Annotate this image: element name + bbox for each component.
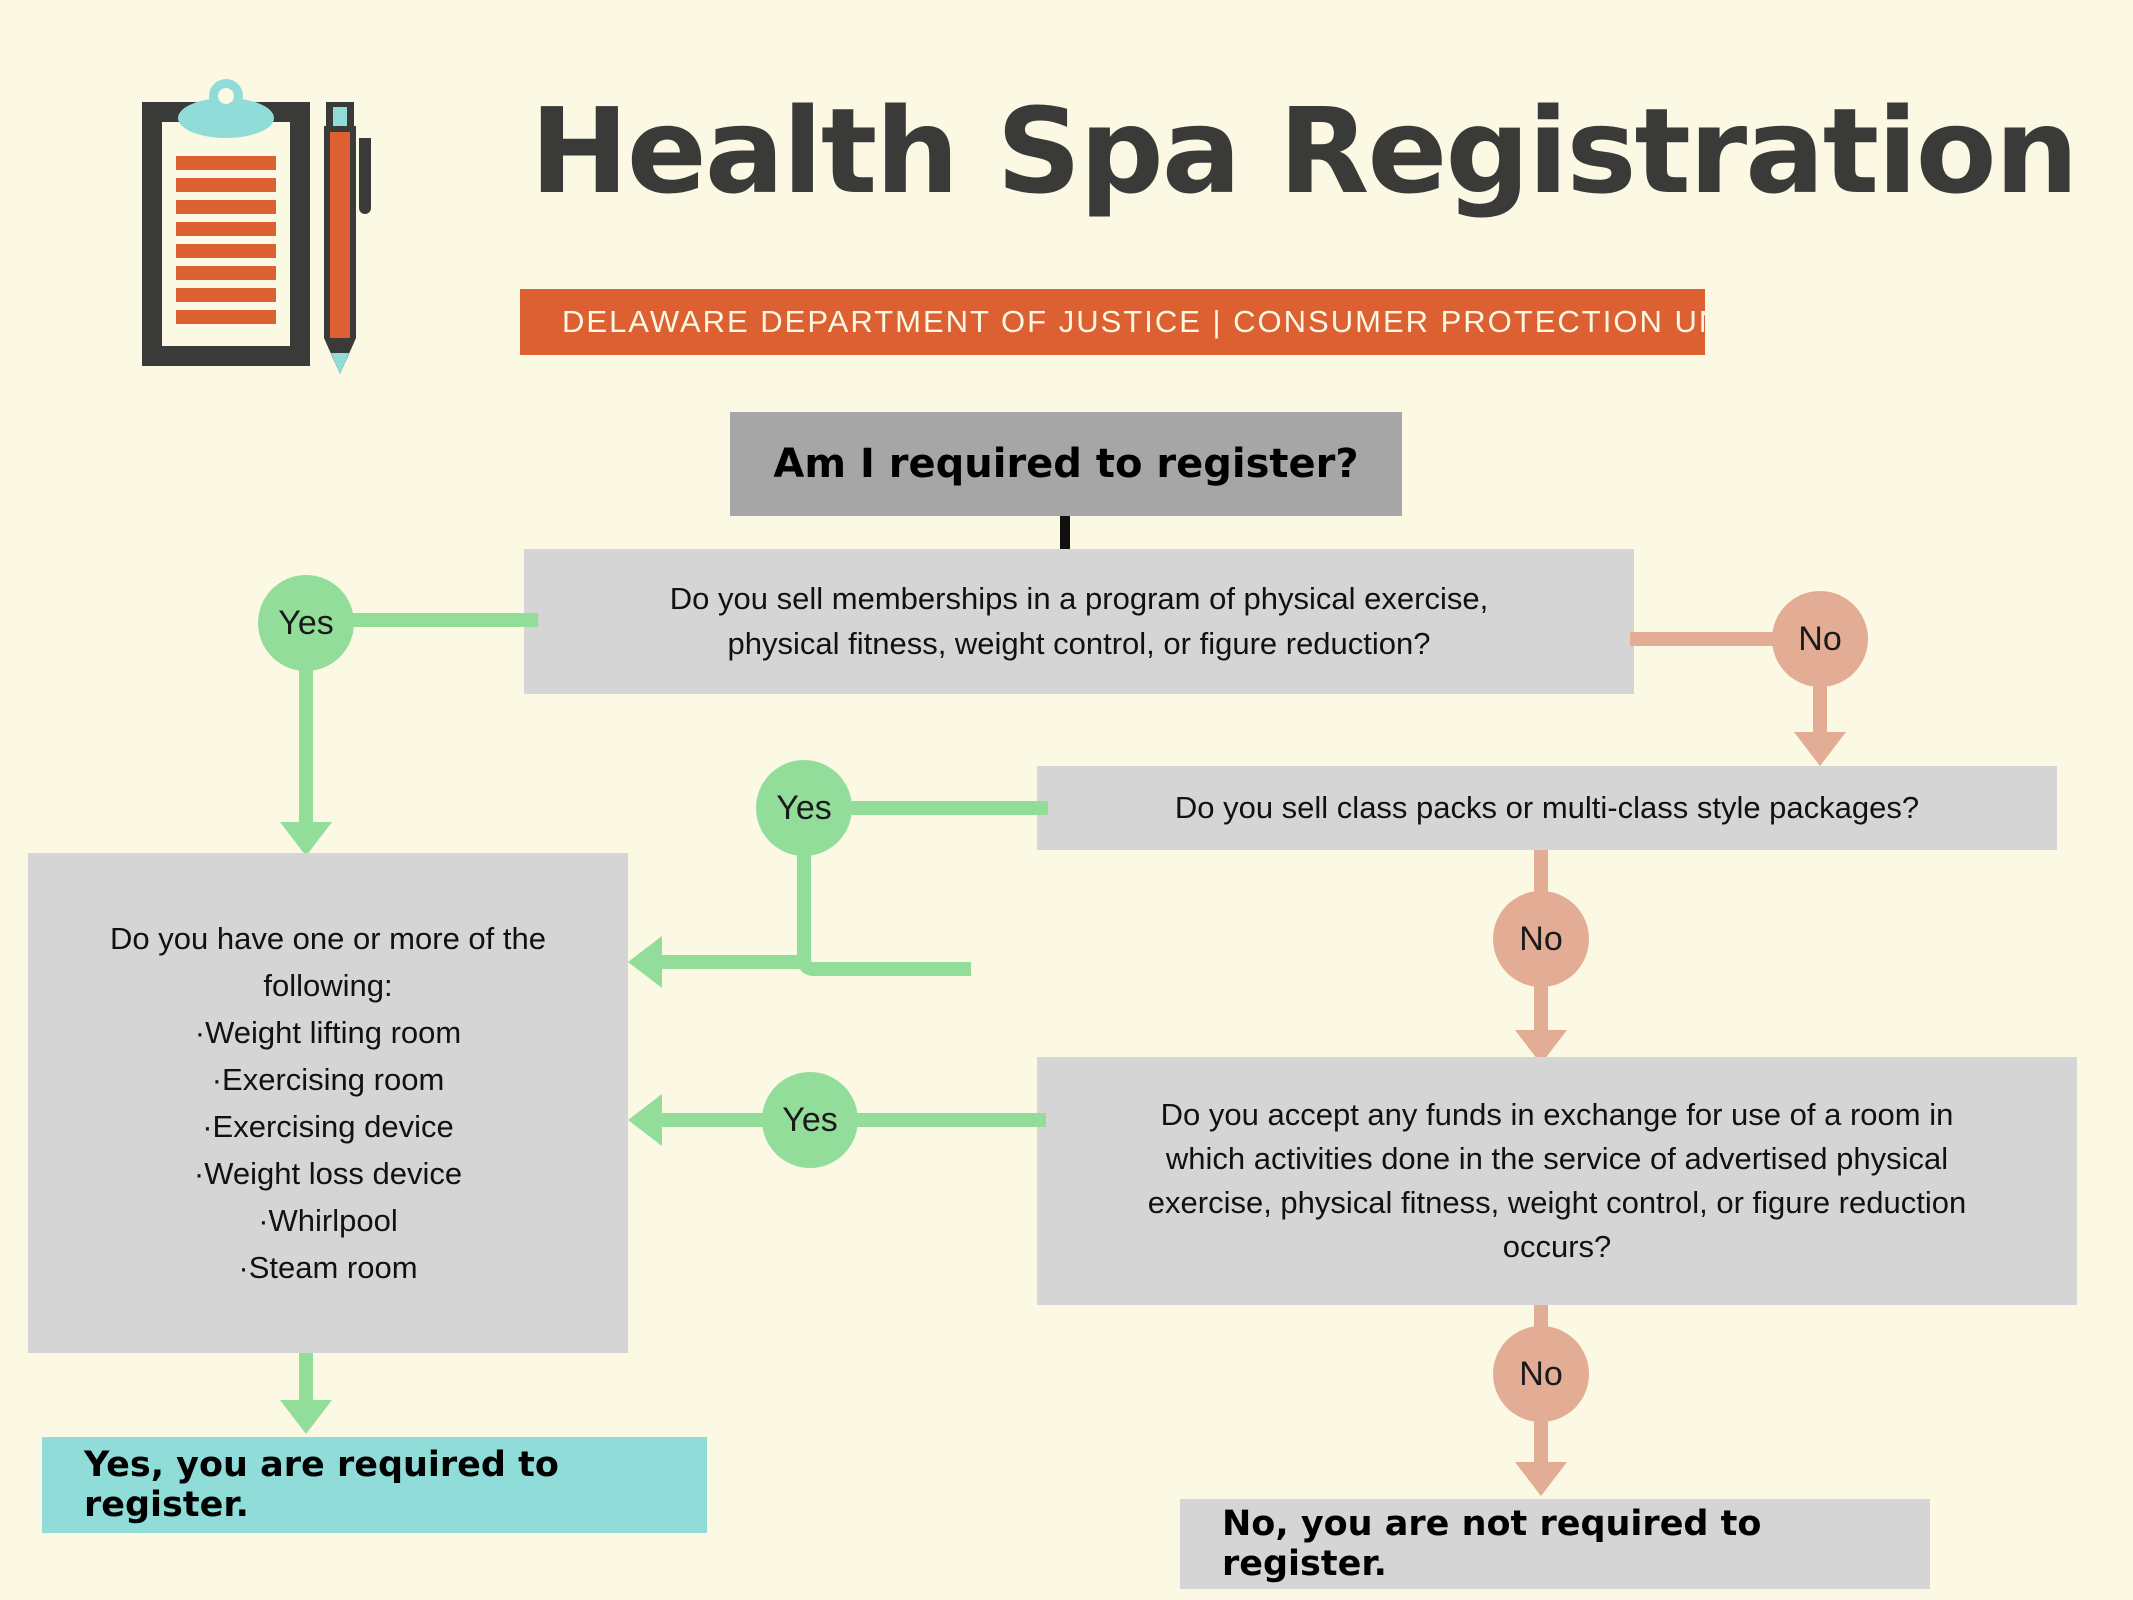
question-box-memberships: Do you sell memberships in a program of … [524, 549, 1634, 694]
decision-yes-3: Yes [762, 1072, 858, 1168]
result-no-box: No, you are not required to register. [1180, 1499, 1930, 1589]
result-yes-box: Yes, you are required to register. [42, 1437, 707, 1533]
flowchart-header-question: Am I required to register? [730, 412, 1402, 516]
decision-no-2: No [1493, 891, 1589, 987]
connector-yes1-down [299, 665, 313, 840]
subtitle-band: DELAWARE DEPARTMENT OF JUSTICE | CONSUME… [520, 289, 1705, 355]
page-title: Health Spa Registration [530, 92, 2077, 210]
arrowhead-no1-down [1794, 732, 1846, 766]
connector-header-to-q1 [1060, 516, 1070, 550]
infographic-poster: Health Spa Registration DELAWARE DEPARTM… [0, 0, 2133, 1600]
question-box-facility-list: Do you have one or more of the following… [28, 853, 628, 1353]
decision-yes-1: Yes [258, 575, 354, 671]
decision-yes-2: Yes [756, 760, 852, 856]
arrowhead-q4-down [280, 1400, 332, 1434]
connector-q3-yes-right [856, 1113, 1046, 1127]
subtitle-text: DELAWARE DEPARTMENT OF JUSTICE | CONSUME… [562, 304, 1755, 340]
arrowhead-yes3-left [628, 1094, 662, 1146]
decision-no-1: No [1772, 591, 1868, 687]
arrowhead-yes1-down [280, 822, 332, 856]
arrowhead-no3-down [1515, 1462, 1567, 1496]
connector-q3-yes-left [655, 1113, 775, 1127]
decision-no-3: No [1493, 1326, 1589, 1422]
question-box-funds-room: Do you accept any funds in exchange for … [1037, 1057, 2077, 1305]
connector-yes2-elbow [797, 850, 971, 976]
clipboard-and-pen-icon [140, 78, 380, 398]
question-box-class-packs: Do you sell class packs or multi-class s… [1037, 766, 2057, 850]
connector-q2-yes [848, 801, 1048, 815]
connector-yes2-left [655, 955, 805, 969]
